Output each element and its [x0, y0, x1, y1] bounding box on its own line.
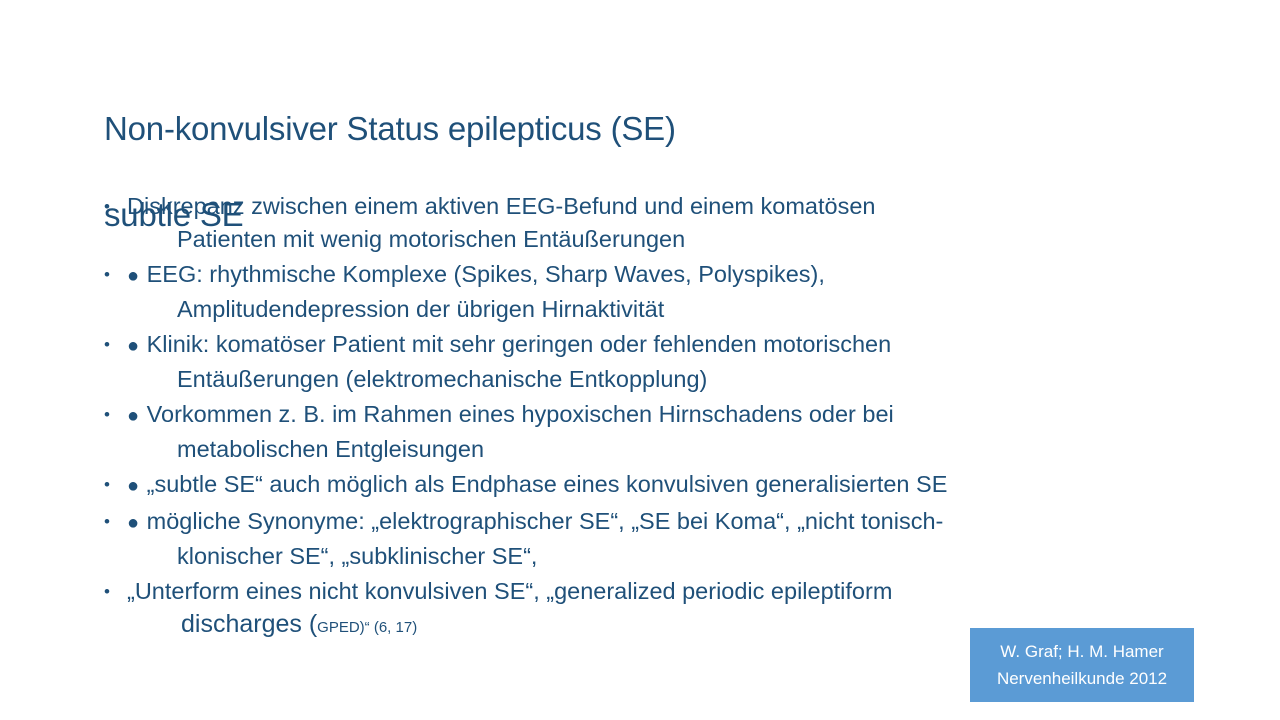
- bullet-list: • Diskrepanz zwischen einem aktiven EEG-…: [100, 190, 1190, 646]
- journal-citation: Nervenheilkunde 2012: [997, 665, 1167, 692]
- filled-circle-icon: ●: [127, 405, 140, 427]
- bullet-marker-icon: •: [100, 328, 126, 361]
- list-item-line-1: EEG: rhythmische Komplexe (Spikes, Sharp…: [147, 261, 825, 287]
- list-item: • Diskrepanz zwischen einem aktiven EEG-…: [100, 190, 1190, 256]
- bullet-marker-icon: •: [100, 505, 126, 538]
- author-credit-box: W. Graf; H. M. Hamer Nervenheilkunde 201…: [970, 628, 1194, 702]
- list-item-text: ● EEG: rhythmische Komplexe (Spikes, Sha…: [126, 258, 1190, 326]
- list-item-line-2: Patienten mit wenig motorischen Entäußer…: [127, 223, 1190, 256]
- list-item-text: ● „subtle SE“ auch möglich als Endphase …: [126, 468, 1190, 503]
- list-item: • ● mögliche Synonyme: „elektrographisch…: [100, 505, 1190, 573]
- list-item-line-2: klonischer SE“, „subklinischer SE“,: [127, 540, 1190, 573]
- filled-circle-icon: ●: [127, 265, 140, 287]
- list-item: • ● Vorkommen z. B. im Rahmen eines hypo…: [100, 398, 1190, 466]
- gped-citation: GPED)“ (6, 17): [317, 619, 417, 636]
- list-item-line-1: Diskrepanz zwischen einem aktiven EEG-Be…: [127, 193, 875, 219]
- bullet-marker-icon: •: [100, 575, 126, 608]
- filled-circle-icon: ●: [127, 335, 140, 357]
- list-item-text: ● mögliche Synonyme: „elektrographischer…: [126, 505, 1190, 573]
- bullet-marker-icon: •: [100, 398, 126, 431]
- list-item: • ● Klinik: komatöser Patient mit sehr g…: [100, 328, 1190, 396]
- filled-circle-icon: ●: [127, 475, 140, 497]
- list-item-line-1: Vorkommen z. B. im Rahmen eines hypoxisc…: [147, 401, 894, 427]
- list-item-line-2: Entäußerungen (elektromechanische Entkop…: [127, 363, 1190, 396]
- list-item: • ● „subtle SE“ auch möglich als Endphas…: [100, 468, 1190, 503]
- list-item-line-1: „Unterform eines nicht konvulsiven SE“, …: [127, 578, 892, 604]
- list-item-text: ● Klinik: komatöser Patient mit sehr ger…: [126, 328, 1190, 396]
- list-item-text: Diskrepanz zwischen einem aktiven EEG-Be…: [126, 190, 1190, 256]
- list-item-text: ● Vorkommen z. B. im Rahmen eines hypoxi…: [126, 398, 1190, 466]
- bullet-marker-icon: •: [100, 190, 126, 223]
- author-names: W. Graf; H. M. Hamer: [1000, 638, 1163, 665]
- bullet-marker-icon: •: [100, 258, 126, 291]
- filled-circle-icon: ●: [127, 512, 140, 534]
- list-item: • ● EEG: rhythmische Komplexe (Spikes, S…: [100, 258, 1190, 326]
- bullet-marker-icon: •: [100, 468, 126, 501]
- list-item-line-1: Klinik: komatöser Patient mit sehr gerin…: [147, 331, 892, 357]
- slide-canvas: Non-konvulsiver Status epilepticus (SE) …: [0, 0, 1280, 720]
- list-item-line-2: Amplitudendepression der übrigen Hirnakt…: [127, 293, 1190, 326]
- list-item-line-1: „subtle SE“ auch möglich als Endphase ei…: [147, 471, 948, 497]
- list-item-line-2-prefix: discharges (: [181, 610, 317, 638]
- list-item-line-2: metabolischen Entgleisungen: [127, 433, 1190, 466]
- page-title-line-1: Non-konvulsiver Status epilepticus (SE): [104, 107, 1104, 150]
- list-item-line-1: mögliche Synonyme: „elektrographischer S…: [147, 508, 944, 534]
